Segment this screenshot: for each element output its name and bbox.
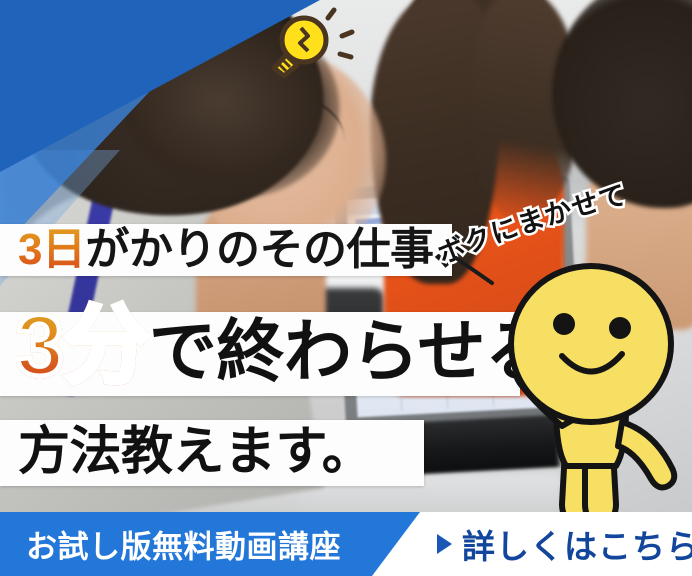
cta-badge-label: お試し版無料動画講座 [26,522,341,567]
headline-highlight-3days: 3日 [18,225,85,274]
headline-line-2-rest: で終わらせる [149,314,553,390]
cta-link-label: 詳しくはこちら [462,520,692,568]
lightbulb-icon [256,6,360,84]
mascot-character [496,236,692,532]
headline-line-3: 方法教えます。 [18,418,373,486]
cta-link[interactable]: 詳しくはこちら [437,520,692,568]
headline-line-1: 3日がかりのその仕事、 [18,222,477,278]
headline-highlight-3min: 3分 [16,298,149,394]
cta-bar[interactable]: お試し版無料動画講座 詳しくはこちら [0,512,692,576]
headline-line-2: 3分で終わらせる [16,298,552,400]
promo-banner: 3日がかりのその仕事、 3分で終わらせる 方法教えます。 ボクにまかせて [0,0,692,576]
cta-badge[interactable]: お試し版無料動画講座 [0,512,420,576]
speech-tail-icon [452,256,496,286]
headline-line-1-rest: がかりのその仕事、 [85,225,477,274]
play-triangle-icon [437,534,452,554]
